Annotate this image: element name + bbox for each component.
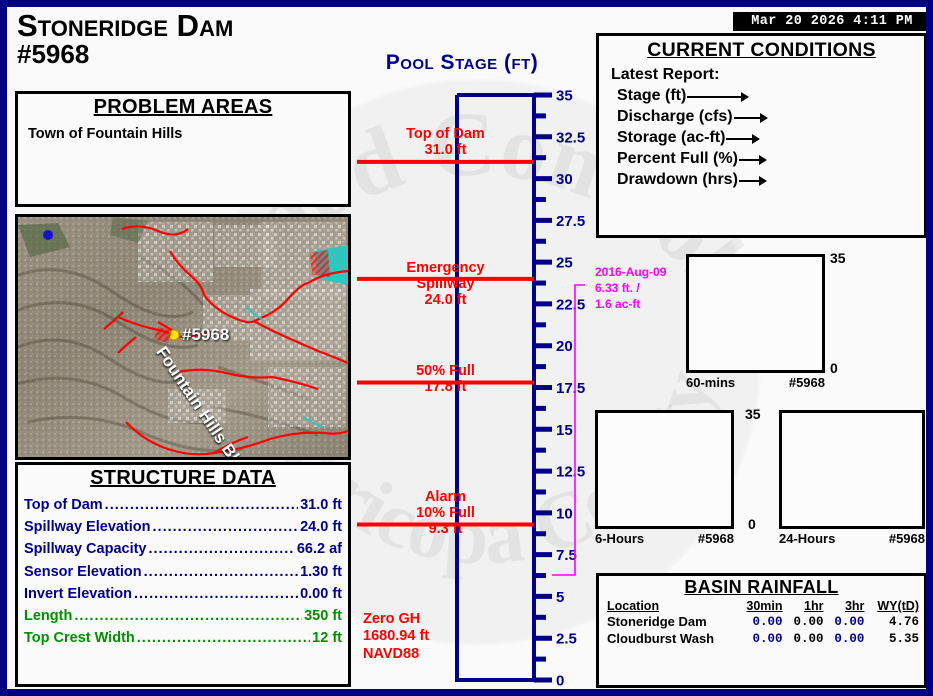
structure-data-label: Top of Dam	[24, 494, 103, 516]
gauge-tick-label: 35	[556, 88, 573, 105]
threshold-label-top-of-dam: Top of Dam31.0 ft	[357, 126, 534, 158]
structure-data-row: Sensor Elevation........................…	[24, 561, 342, 583]
basin-rainfall-cell: 5.35	[869, 630, 924, 647]
current-condition-label: Discharge (cfs)	[617, 108, 733, 126]
current-conditions-title: CURRENT CONDITIONS	[599, 39, 924, 62]
current-condition-label: Stage (ft)	[617, 87, 686, 105]
current-condition-label: Percent Full (%)	[617, 150, 738, 168]
basin-rainfall-cell: 0.00	[828, 613, 869, 630]
threshold-label-line: Spillway	[357, 276, 534, 292]
gauge-tick-label: 20	[556, 338, 573, 355]
threshold-label-line: Alarm	[357, 489, 534, 505]
basin-rainfall-column-header: 1hr	[788, 599, 829, 613]
threshold-label-line: 9.3 ft	[357, 521, 534, 537]
basin-rainfall-cell: 0.00	[739, 630, 787, 647]
arrow-icon	[687, 90, 749, 102]
chart-60-mins-axis-max: 35	[830, 250, 846, 266]
basin-rainfall-table: Location30min1hr3hrWY(tD) Stoneridge Dam…	[599, 599, 924, 647]
structure-data-value: 66.2 af	[297, 538, 342, 560]
threshold-label-line: Emergency	[357, 260, 534, 276]
timestamp: Mar 20 2026 4:11 PM	[733, 12, 931, 31]
gauge-tick-label: 7.5	[556, 547, 577, 564]
latest-report-label: Latest Report:	[611, 66, 924, 84]
leader-dots: ........................................…	[149, 538, 295, 560]
problem-areas-title: PROBLEM AREAS	[18, 96, 348, 119]
structure-data-row: Spillway Elevation......................…	[24, 516, 342, 538]
structure-data-label: Spillway Capacity	[24, 538, 147, 560]
structure-data-value: 0.00 ft	[300, 583, 342, 605]
basin-rainfall-column-header: 30min	[739, 599, 787, 613]
structure-data-row: Length..................................…	[24, 605, 342, 627]
structure-data-value: 24.0 ft	[300, 516, 342, 538]
current-condition-row: Percent Full (%)	[617, 150, 924, 168]
leader-dots: ........................................…	[153, 516, 299, 538]
basin-rainfall-cell: 0.00	[739, 613, 787, 630]
structure-data-label: Top Crest Width	[24, 627, 135, 649]
chart-6-hours-caption: 6-Hours #5968	[595, 531, 734, 546]
gauge-tick-label: 5	[556, 589, 564, 606]
basin-rainfall-header-row: Location30min1hr3hrWY(tD)	[599, 599, 924, 613]
current-condition-row: Stage (ft)	[617, 87, 924, 105]
current-condition-row: Storage (ac-ft)	[617, 129, 924, 147]
basin-rainfall-cell: 0.00	[788, 630, 829, 647]
basin-rainfall-title: BASIN RAINFALL	[599, 577, 924, 598]
peak-annotation: 2016-Aug-09 6.33 ft. / 1.6 ac-ft	[595, 265, 666, 312]
basin-rainfall-cell: Stoneridge Dam	[599, 613, 739, 630]
structure-data-value: 1.30 ft	[300, 561, 342, 583]
gauge-tick-label: 17.5	[556, 380, 585, 397]
chart-60-mins-axis-min: 0	[830, 360, 838, 376]
chart-6-hours-axis-min: 0	[748, 516, 756, 532]
structure-data-label: Invert Elevation	[24, 583, 132, 605]
threshold-label-line: 50% Full	[357, 363, 534, 379]
basin-rainfall-cell: 0.00	[828, 630, 869, 647]
threshold-label-line: Top of Dam	[357, 126, 534, 142]
threshold-label-fifty-percent-full: 50% Full17.8 ft	[357, 363, 534, 395]
structure-data-title: STRUCTURE DATA	[18, 467, 348, 490]
structure-data-value: 350 ft	[304, 605, 342, 627]
gauge-tick-label: 32.5	[556, 129, 585, 146]
current-condition-row: Discharge (cfs)	[617, 108, 924, 126]
threshold-label-line: 24.0 ft	[357, 292, 534, 308]
arrow-icon	[739, 174, 767, 186]
site-id: #5968	[17, 41, 233, 68]
structure-data-value: 12 ft	[312, 627, 342, 649]
chart-24-hours-period: 24-Hours	[779, 531, 835, 546]
structure-data-rows: Top of Dam..............................…	[24, 494, 342, 649]
chart-24-hours[interactable]	[779, 410, 925, 529]
peak-storage: 1.6 ac-ft	[595, 297, 666, 313]
current-condition-label: Drawdown (hrs)	[617, 171, 738, 189]
zero-gh-line-2: NAVD88	[363, 646, 429, 663]
chart-6-hours-period: 6-Hours	[595, 531, 644, 546]
threshold-label-line: 17.8 ft	[357, 379, 534, 395]
chart-60-mins[interactable]	[686, 254, 825, 373]
gauge-tick-label: 0	[556, 673, 564, 690]
chart-6-hours[interactable]	[595, 410, 734, 529]
page-title-block: Stoneridge Dam #5968	[17, 11, 233, 69]
zero-gh-line-1: 1680.94 ft	[363, 628, 429, 645]
structure-data-row: Invert Elevation........................…	[24, 583, 342, 605]
basin-rainfall-cell: Cloudburst Wash	[599, 630, 739, 647]
gauge-tick-label: 30	[556, 171, 573, 188]
table-row: Cloudburst Wash0.000.000.005.35	[599, 630, 924, 647]
chart-24-hours-caption: 24-Hours #5968	[779, 531, 925, 546]
dam-status-dashboard: Flood Control District Maricopa County S…	[0, 0, 933, 696]
current-condition-label: Storage (ac-ft)	[617, 129, 725, 147]
gauge-tick-label: 12.5	[556, 464, 585, 481]
gauge-tick-label: 25	[556, 255, 573, 272]
gauge-tick-label: 15	[556, 422, 573, 439]
structure-data-label: Sensor Elevation	[24, 561, 142, 583]
basin-rainfall-cell: 0.00	[788, 613, 829, 630]
structure-data-panel: STRUCTURE DATA Top of Dam...............…	[15, 462, 351, 687]
arrow-icon	[734, 111, 768, 123]
chart-24-hours-site: #5968	[889, 531, 925, 546]
table-row: Stoneridge Dam0.000.000.004.76	[599, 613, 924, 630]
threshold-label-alarm: Alarm10% Full9.3 ft	[357, 489, 534, 538]
gauge-tick-label: 2.5	[556, 631, 577, 648]
gauge-tick-label: 27.5	[556, 213, 585, 230]
chart-60-mins-site: #5968	[789, 375, 825, 390]
map-secondary-gauge-marker	[43, 230, 53, 240]
leader-dots: ........................................…	[74, 605, 302, 627]
arrow-icon	[739, 153, 767, 165]
problem-area-item: Town of Fountain Hills	[28, 126, 348, 142]
gauge-tick-label: 22.5	[556, 296, 585, 313]
basin-rainfall-column-header: WY(tD)	[869, 599, 924, 613]
page-title: Stoneridge Dam	[17, 11, 233, 40]
map-site-label: #5968	[182, 325, 229, 345]
structure-data-row: Spillway Capacity.......................…	[24, 538, 342, 560]
threshold-label-line: 10% Full	[357, 505, 534, 521]
current-condition-row: Drawdown (hrs)	[617, 171, 924, 189]
threshold-label-emergency-spillway: EmergencySpillway24.0 ft	[357, 260, 534, 309]
structure-data-row: Top Crest Width.........................…	[24, 627, 342, 649]
basin-rainfall-column-header: 3hr	[828, 599, 869, 613]
basin-rainfall-body: Stoneridge Dam0.000.000.004.76Cloudburst…	[599, 613, 924, 647]
structure-data-label: Spillway Elevation	[24, 516, 151, 538]
structure-data-value: 31.0 ft	[300, 494, 342, 516]
basin-rainfall-column-header: Location	[599, 599, 739, 613]
structure-data-label: Length	[24, 605, 72, 627]
location-map[interactable]: #5968 Fountain Hills Blvd	[15, 214, 351, 460]
current-conditions-rows: Stage (ft)Discharge (cfs)Storage (ac-ft)…	[599, 87, 924, 189]
zero-gage-height-note: Zero GH1680.94 ftNAVD88	[363, 611, 429, 663]
peak-date: 2016-Aug-09	[595, 265, 666, 281]
leader-dots: ........................................…	[144, 561, 298, 583]
leader-dots: ........................................…	[105, 494, 298, 516]
chart-60-mins-caption: 60-mins #5968	[686, 375, 825, 390]
pool-stage-gauge: 3532.53027.52522.52017.51512.5107.552.50…	[353, 67, 585, 696]
peak-stage: 6.33 ft. /	[595, 281, 666, 297]
basin-rainfall-cell: 4.76	[869, 613, 924, 630]
structure-data-row: Top of Dam..............................…	[24, 494, 342, 516]
leader-dots: ........................................…	[137, 627, 310, 649]
chart-60-mins-period: 60-mins	[686, 375, 735, 390]
current-conditions-panel: CURRENT CONDITIONS Latest Report: Stage …	[596, 33, 927, 238]
chart-6-hours-site: #5968	[698, 531, 734, 546]
threshold-label-line: 31.0 ft	[357, 142, 534, 158]
zero-gh-line-0: Zero GH	[363, 611, 429, 628]
gauge-title: Pool Stage (ft)	[362, 51, 562, 75]
chart-6-hours-axis-max: 35	[745, 406, 761, 422]
arrow-icon	[726, 132, 760, 144]
basin-rainfall-panel: BASIN RAINFALL Location30min1hr3hrWY(tD)…	[596, 573, 927, 688]
gauge-tick-label: 10	[556, 505, 573, 522]
leader-dots: ........................................…	[134, 583, 298, 605]
problem-areas-panel: PROBLEM AREAS Town of Fountain Hills	[15, 91, 351, 207]
